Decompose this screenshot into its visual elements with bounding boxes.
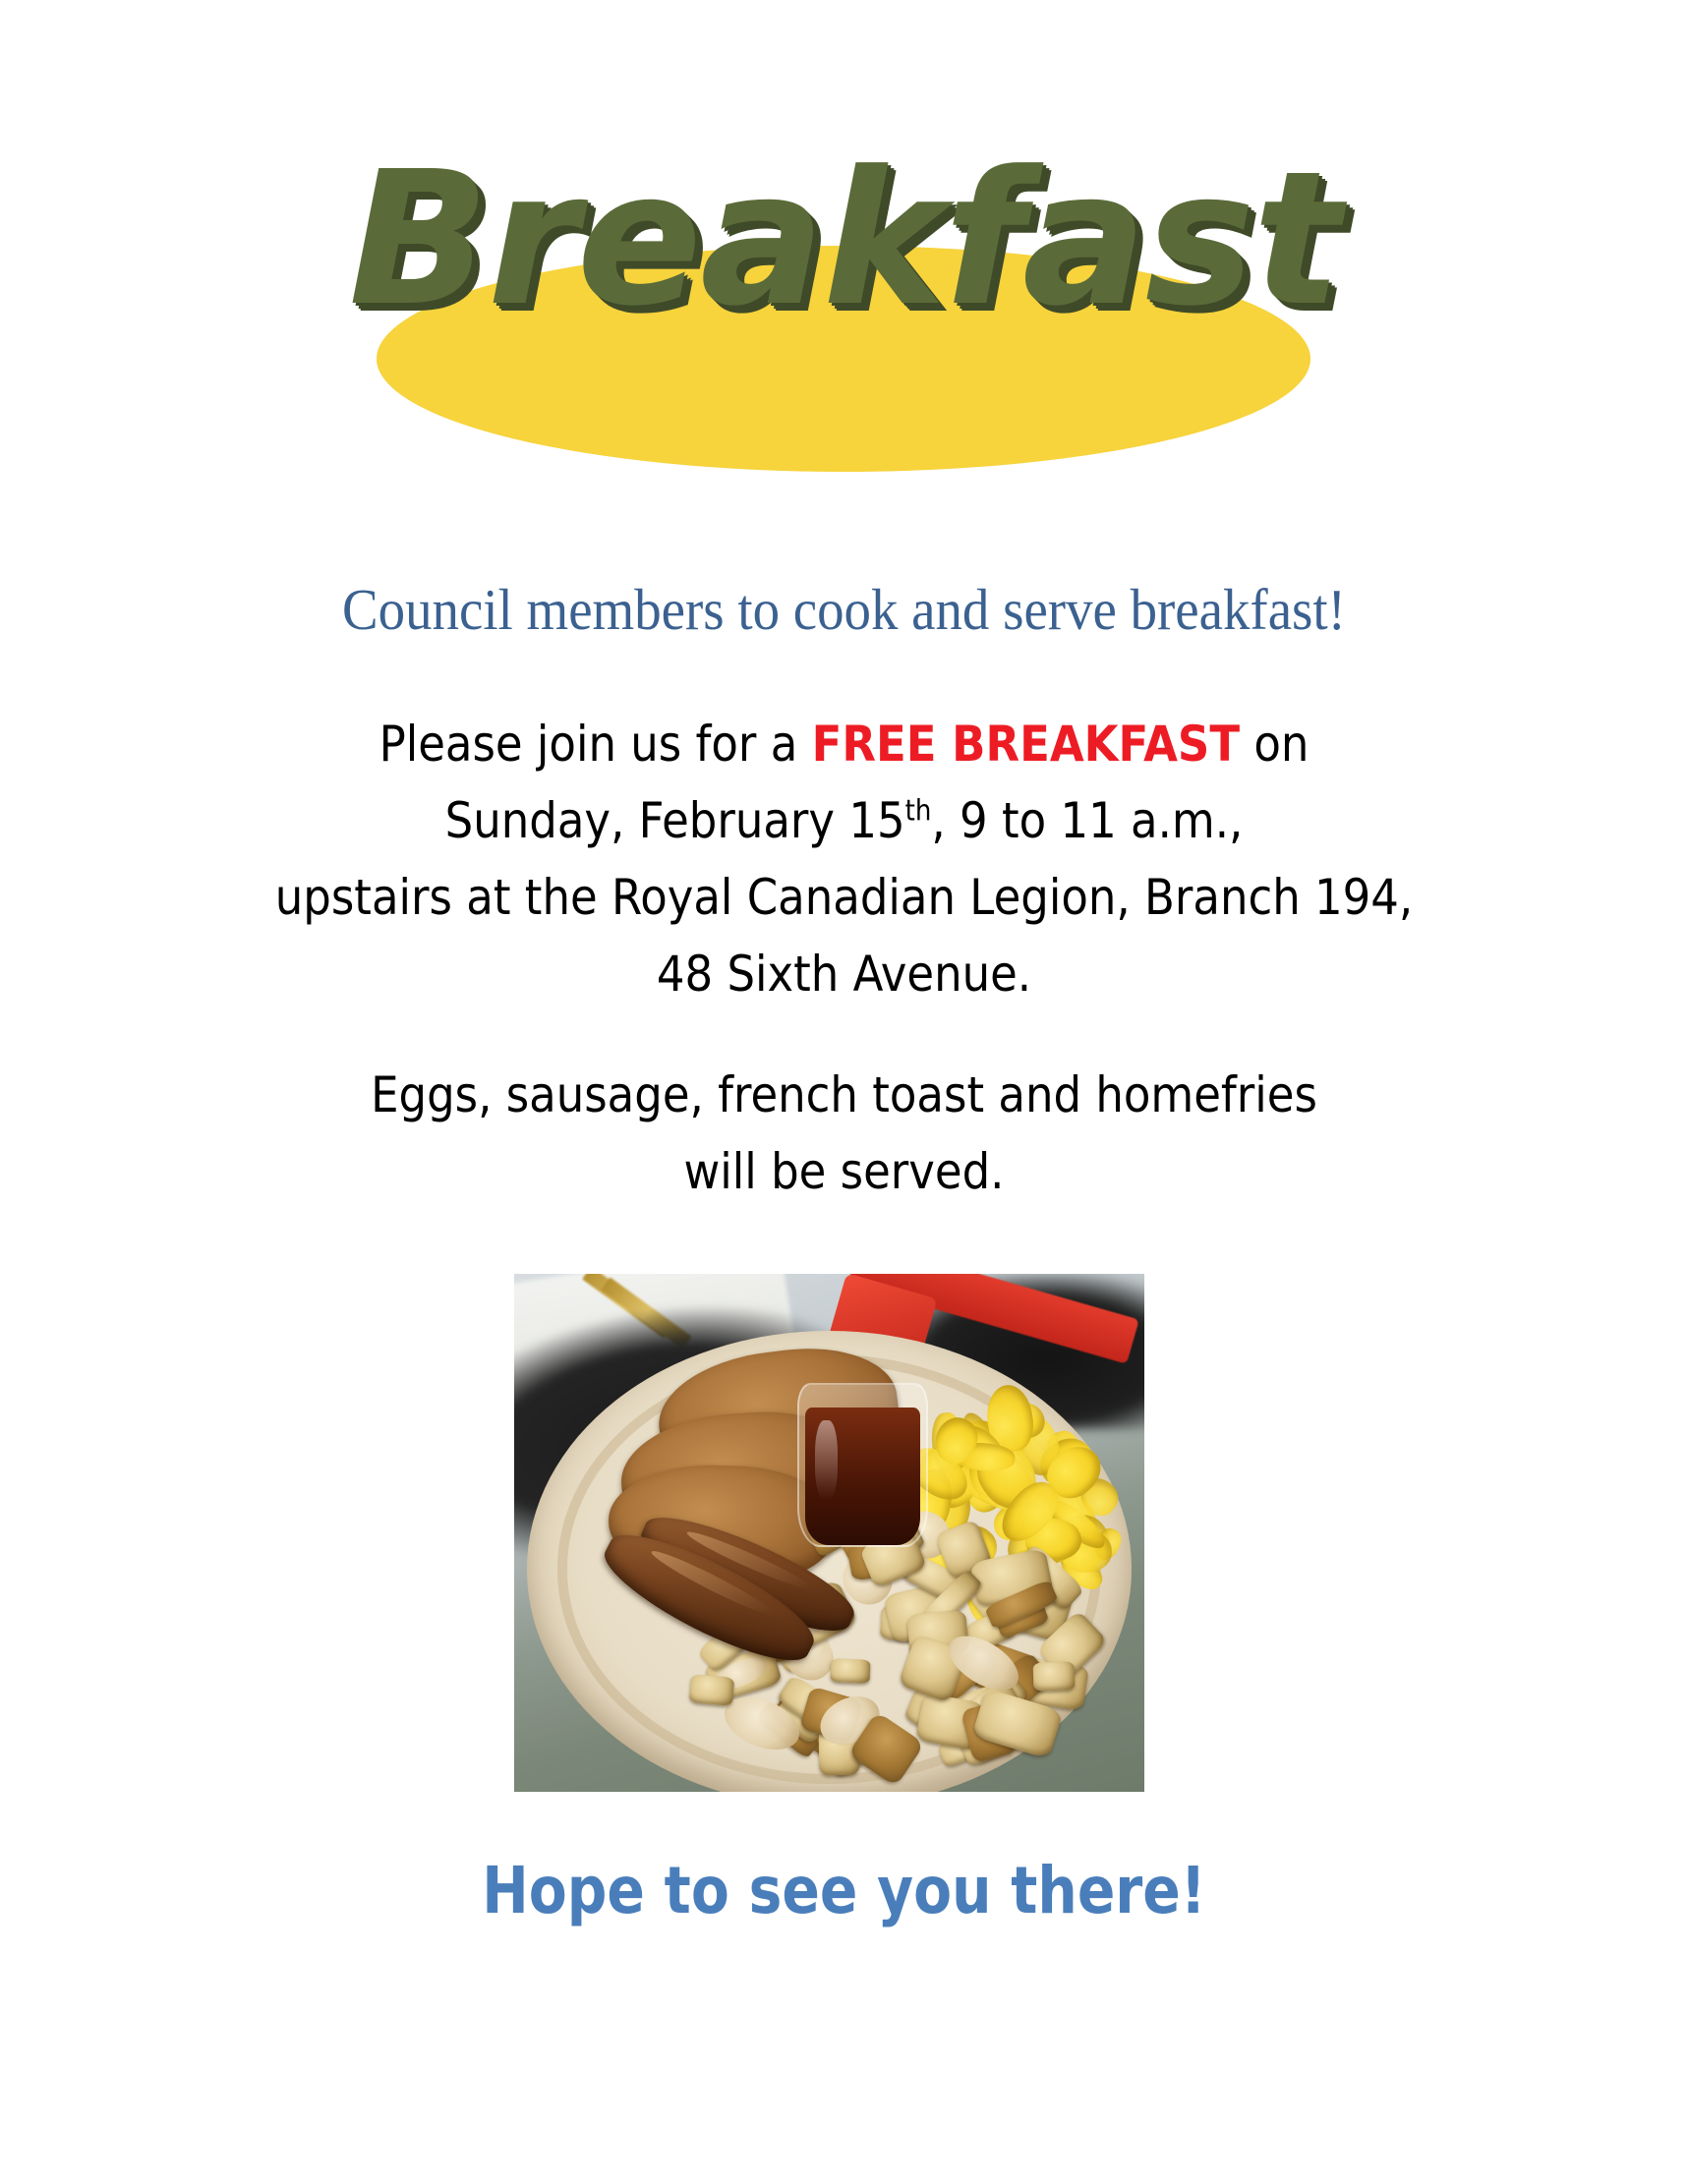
subtitle: Council members to cook and serve breakf… (59, 576, 1629, 644)
breakfast-photo (514, 1274, 1144, 1792)
time-text: , 9 to 11 a.m., (931, 792, 1243, 849)
menu-block: Eggs, sausage, french toast and homefrie… (0, 1057, 1688, 1210)
page-title: Breakfast (0, 147, 1688, 332)
invitation-line-1-pre: Please join us for a (379, 716, 812, 773)
potato-piece (831, 1658, 871, 1684)
syrup-cup (797, 1383, 927, 1547)
flyer-page: Breakfast Council members to cook and se… (0, 0, 1688, 2184)
invitation-line-4: 48 Sixth Avenue. (85, 936, 1603, 1012)
title-block: Breakfast (0, 147, 1688, 472)
invitation-block: Please join us for a FREE BREAKFAST on S… (0, 706, 1688, 1012)
invitation-line-2: Sunday, February 15th, 9 to 11 a.m., (85, 782, 1603, 859)
menu-line-1: Eggs, sausage, french toast and homefrie… (85, 1057, 1603, 1133)
invitation-line-1: Please join us for a FREE BREAKFAST on (85, 706, 1603, 782)
date-ordinal-suffix: th (905, 793, 932, 827)
menu-line-2: will be served. (85, 1133, 1603, 1210)
invitation-line-1-post: on (1240, 716, 1309, 773)
breakfast-photo-image (514, 1274, 1144, 1792)
potato-piece (1033, 1661, 1076, 1691)
potato-piece (689, 1674, 735, 1706)
date-text: Sunday, February 15 (445, 792, 905, 849)
invitation-line-3: upstairs at the Royal Canadian Legion, B… (85, 859, 1603, 936)
syrup-cup-highlight (815, 1420, 838, 1501)
closing-line: Hope to see you there! (118, 1853, 1570, 1928)
free-breakfast-highlight: FREE BREAKFAST (812, 716, 1240, 773)
